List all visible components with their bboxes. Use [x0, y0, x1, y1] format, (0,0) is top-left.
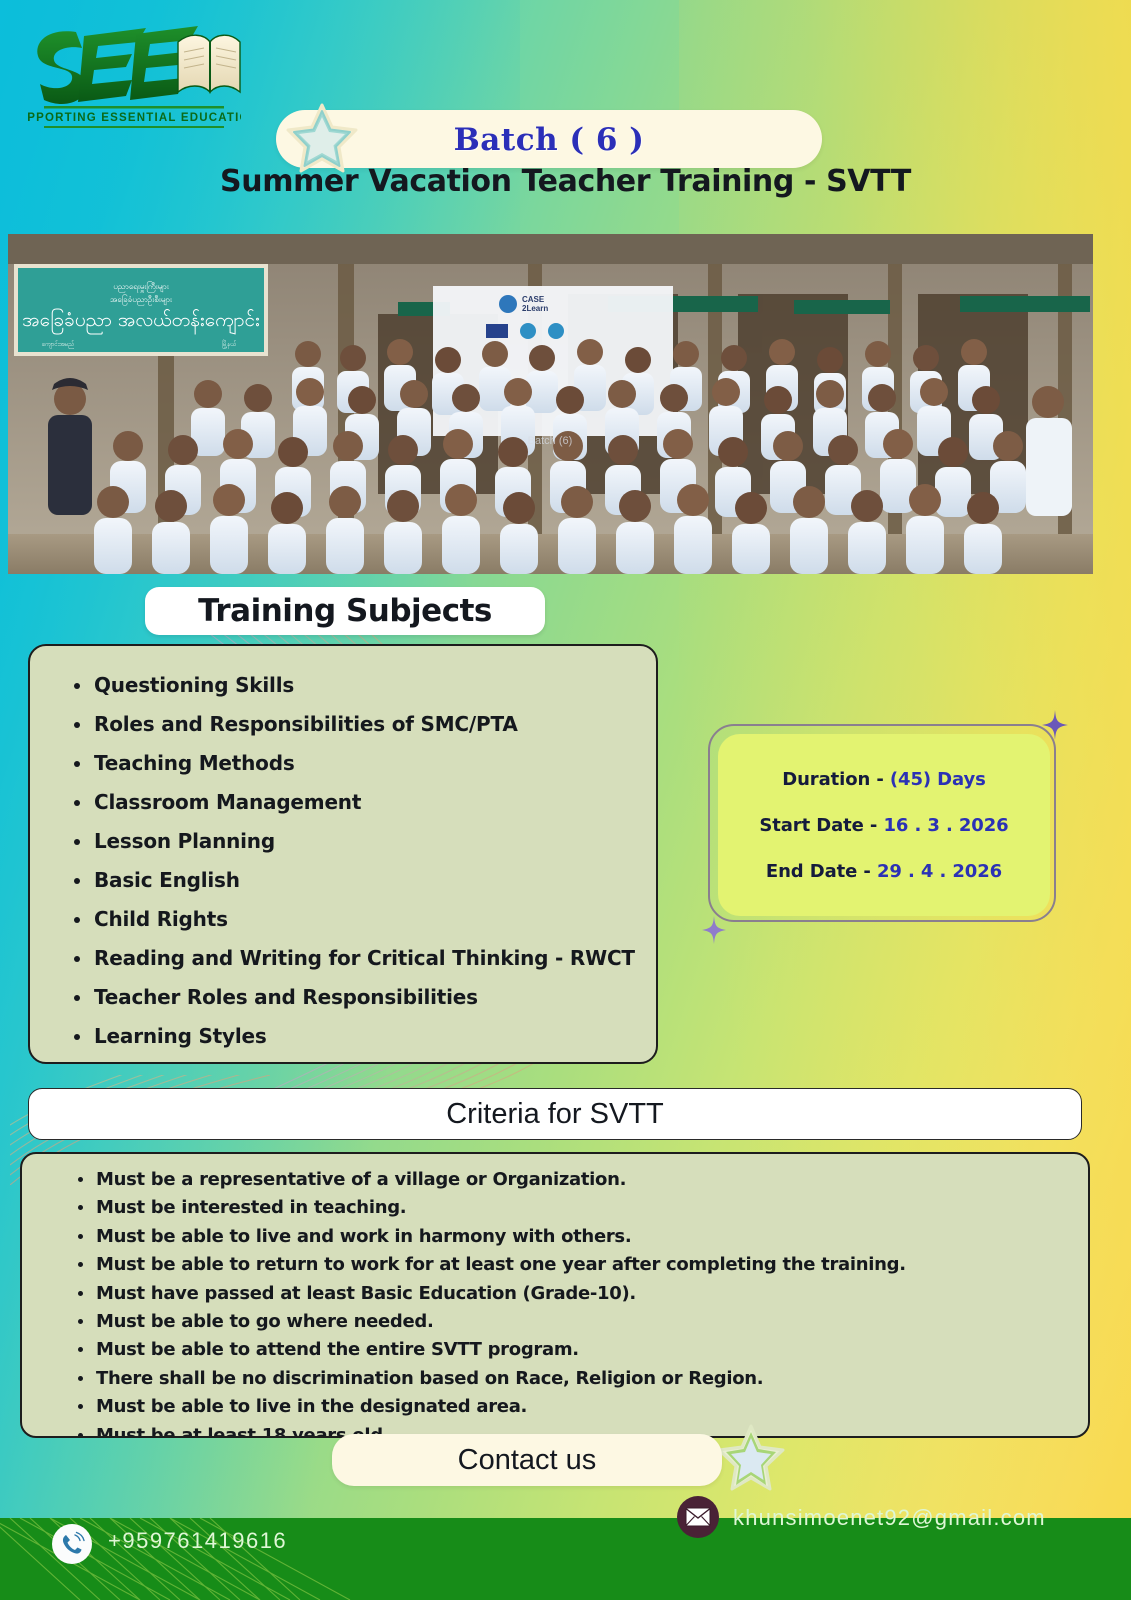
list-item: Learning Styles	[70, 1017, 638, 1056]
list-item: Basic English	[70, 861, 638, 900]
duration-card: Duration - (45) Days Start Date - 16 . 3…	[718, 734, 1050, 916]
phone-number[interactable]: +959761419616	[108, 1528, 287, 1554]
star-icon	[716, 1424, 786, 1492]
poster-subtitle: Summer Vacation Teacher Training - SVTT	[0, 164, 1131, 199]
criteria-list: Must be a representative of a village or…	[76, 1166, 1070, 1438]
contact-heading-text: Contact us	[458, 1444, 597, 1477]
svg-text:ကျောင်းအမည်: ကျောင်းအမည်	[42, 340, 74, 349]
list-item: Must be interested in teaching.	[76, 1194, 1070, 1222]
list-item: Must be able to live in the designated a…	[76, 1393, 1070, 1421]
list-item: Must be able to live and work in harmony…	[76, 1223, 1070, 1251]
batch-label: Batch ( 6 )	[276, 112, 822, 168]
list-item: Teacher Roles and Responsibilities	[70, 978, 638, 1017]
svg-text:2Learn: 2Learn	[522, 304, 548, 313]
list-item: Child Rights	[70, 900, 638, 939]
list-item: Classroom Management	[70, 783, 638, 822]
training-subjects-box: Questioning Skills Roles and Responsibil…	[28, 644, 658, 1064]
svg-text:အခြေခံပညာ အလယ်တန်းကျောင်း: အခြေခံပညာ အလယ်တန်းကျောင်း	[22, 307, 260, 335]
photo-overlay-caption: Batch (6)	[528, 435, 573, 447]
list-item: Must be able to go where needed.	[76, 1308, 1070, 1336]
phone-icon	[52, 1524, 92, 1564]
logo-tagline: SUPPORTING ESSENTIAL EDUCATION	[26, 112, 241, 124]
end-date-value: 29 . 4 . 2026	[877, 861, 1002, 882]
training-subjects-list: Questioning Skills Roles and Responsibil…	[70, 666, 638, 1056]
list-item: Questioning Skills	[70, 666, 638, 705]
start-date-value: 16 . 3 . 2026	[883, 815, 1008, 836]
list-item: Lesson Planning	[70, 822, 638, 861]
email-icon	[677, 1496, 719, 1538]
list-item: Must be able to return to work for at le…	[76, 1251, 1070, 1279]
contact-heading: Contact us	[332, 1434, 722, 1486]
photo-banner: ပညာရေးမှူးကြီးများ အခြေခံပညာဦးစီးများ အခ…	[16, 266, 266, 354]
duration-value: (45) Days	[890, 769, 986, 790]
end-date-label: End Date -	[766, 861, 877, 882]
list-item: Must be able to attend the entire SVTT p…	[76, 1336, 1070, 1364]
svg-text:မြို့နယ်: မြို့နယ်	[222, 339, 236, 349]
list-item: Must be a representative of a village or…	[76, 1166, 1070, 1194]
svg-text:CASE: CASE	[522, 295, 545, 304]
list-item: Roles and Responsibilities of SMC/PTA	[70, 705, 638, 744]
poster-root: SUPPORTING ESSENTIAL EDUCATION Batch ( 6…	[0, 0, 1131, 1600]
start-date-label: Start Date -	[759, 815, 883, 836]
list-item: There shall be no discrimination based o…	[76, 1365, 1070, 1393]
criteria-box: Must be a representative of a village or…	[20, 1152, 1090, 1438]
group-photo: ပညာရေးမှူးကြီးများ အခြေခံပညာဦးစီးများ အခ…	[8, 234, 1093, 574]
criteria-heading-text: Criteria for SVTT	[446, 1098, 664, 1131]
criteria-heading: Criteria for SVTT	[28, 1088, 1082, 1140]
duration-label: Duration -	[782, 769, 890, 790]
list-item: Teaching Methods	[70, 744, 638, 783]
see-logo: SUPPORTING ESSENTIAL EDUCATION	[26, 14, 241, 134]
duration-row: Duration - (45) Days	[782, 769, 986, 790]
training-subjects-heading: Training Subjects	[145, 587, 545, 635]
training-subjects-heading-text: Training Subjects	[198, 593, 492, 629]
list-item: Must have passed at least Basic Educatio…	[76, 1280, 1070, 1308]
list-item: Reading and Writing for Critical Thinkin…	[70, 939, 638, 978]
start-date-row: Start Date - 16 . 3 . 2026	[759, 815, 1008, 836]
email-address[interactable]: khunsimoenet92@gmail.com	[733, 1505, 1046, 1531]
end-date-row: End Date - 29 . 4 . 2026	[766, 861, 1002, 882]
